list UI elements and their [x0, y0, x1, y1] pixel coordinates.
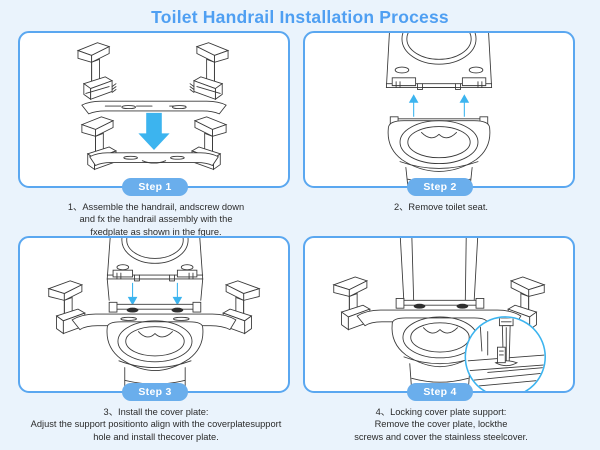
- down-arrows-icon: [129, 283, 182, 304]
- toilet-bowl: [107, 321, 203, 391]
- step-4-badge: Step 4: [407, 383, 473, 401]
- caption-line: hole and install thecover plate.: [12, 431, 300, 443]
- steps-grid: Step 1 1、Assemble the handrail, andscrew…: [0, 31, 600, 450]
- step-card-1: Step 1 1、Assemble the handrail, andscrew…: [18, 31, 303, 236]
- step-1-badge: Step 1: [122, 178, 188, 196]
- step-3-illustration-panel: [18, 236, 290, 393]
- step-card-2: Step 2 2、Remove toilet seat.: [303, 31, 588, 236]
- step-card-4: Step 4 4、Locking cover plate support: Re…: [303, 236, 588, 441]
- step-1-caption: 1、Assemble the handrail, andscrew down a…: [12, 201, 300, 238]
- installation-guide-page: { "header": { "title": "Toilet Handrail …: [0, 0, 600, 450]
- step-2-illustration-panel: [303, 31, 575, 188]
- caption-line: 2、Remove toilet seat.: [297, 201, 585, 213]
- step-card-3: Step 3 3、Install the cover plate: Adjust…: [18, 236, 303, 441]
- figure-lock-cover-plate-support: [305, 238, 573, 391]
- caption-line: screws and cover the stainless steelcove…: [297, 431, 585, 443]
- toilet-lid-raised: [400, 238, 478, 302]
- figure-handrail-assembly: [20, 33, 288, 186]
- caption-line: 1、Assemble the handrail, andscrew down: [12, 201, 300, 213]
- handrail-arm-left-top: [78, 43, 116, 100]
- step-1-illustration-panel: [18, 31, 290, 188]
- step-4-illustration-panel: [303, 236, 575, 393]
- toilet-lid-raised: [386, 33, 491, 90]
- step-4-caption: 4、Locking cover plate support: Remove th…: [297, 406, 585, 443]
- step-2-caption: 2、Remove toilet seat.: [297, 201, 585, 213]
- caption-line: 3、Install the cover plate:: [12, 406, 300, 418]
- caption-line: Adjust the support positionto align with…: [12, 418, 300, 430]
- page-title: Toilet Handrail Installation Process: [0, 0, 600, 27]
- up-arrows-icon: [410, 95, 468, 116]
- step-3-badge: Step 3: [122, 383, 188, 401]
- fixing-plate-top: [82, 101, 226, 114]
- toilet-bowl: [388, 121, 490, 186]
- down-arrow-icon: [138, 113, 169, 150]
- caption-line: and fx the handrail assembly with the: [12, 213, 300, 225]
- caption-line: 4、Locking cover plate support:: [297, 406, 585, 418]
- figure-remove-toilet-seat: [305, 33, 573, 186]
- caption-line: Remove the cover plate, lockthe: [297, 418, 585, 430]
- screw-detail-callout: [465, 317, 552, 391]
- step-2-badge: Step 2: [407, 178, 473, 196]
- toilet-lid-raised: [107, 238, 203, 300]
- step-3-caption: 3、Install the cover plate: Adjust the su…: [12, 406, 300, 443]
- figure-install-cover-plate: [20, 238, 288, 391]
- handrail-arm-right-top: [190, 43, 228, 100]
